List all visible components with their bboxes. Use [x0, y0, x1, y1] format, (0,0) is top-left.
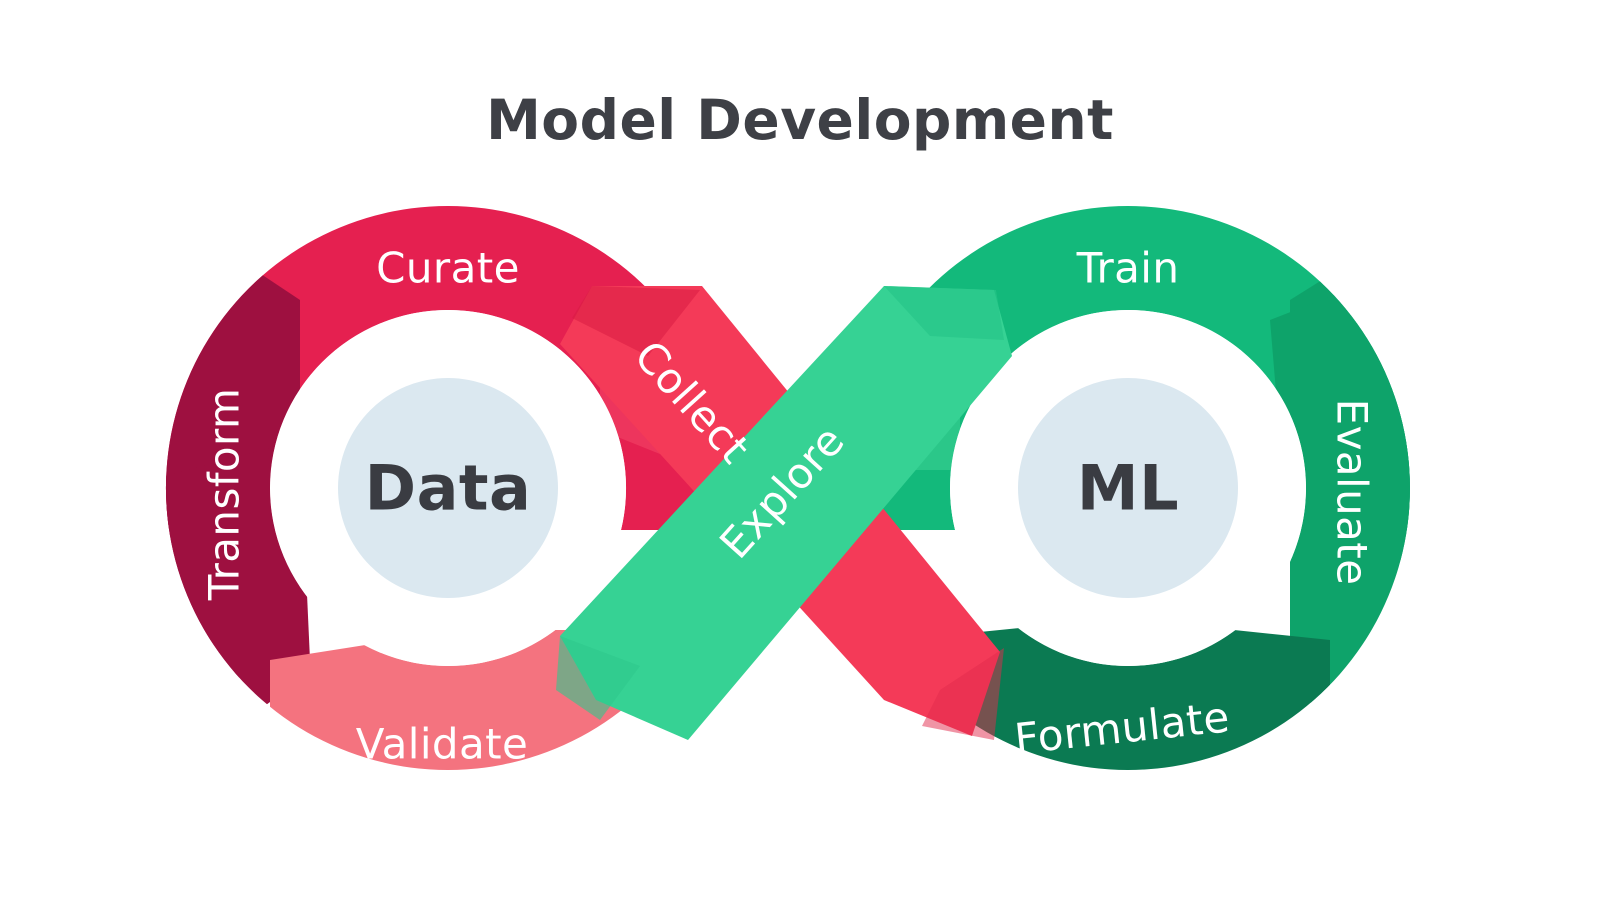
label-train: Train	[1076, 244, 1180, 293]
hub-data: Data	[338, 378, 558, 598]
label-validate: Validate	[356, 720, 528, 769]
infinity-loop-graphic: Data ML Curate Transform Validate Train …	[0, 0, 1600, 900]
hub-ml: ML	[1018, 378, 1238, 598]
data-hub-label: Data	[365, 452, 532, 525]
label-evaluate: Evaluate	[1328, 399, 1377, 586]
ml-hub-label: ML	[1077, 452, 1179, 525]
label-transform: Transform	[200, 388, 249, 602]
diagram-canvas: Model Development	[0, 0, 1600, 900]
label-curate: Curate	[376, 244, 520, 293]
